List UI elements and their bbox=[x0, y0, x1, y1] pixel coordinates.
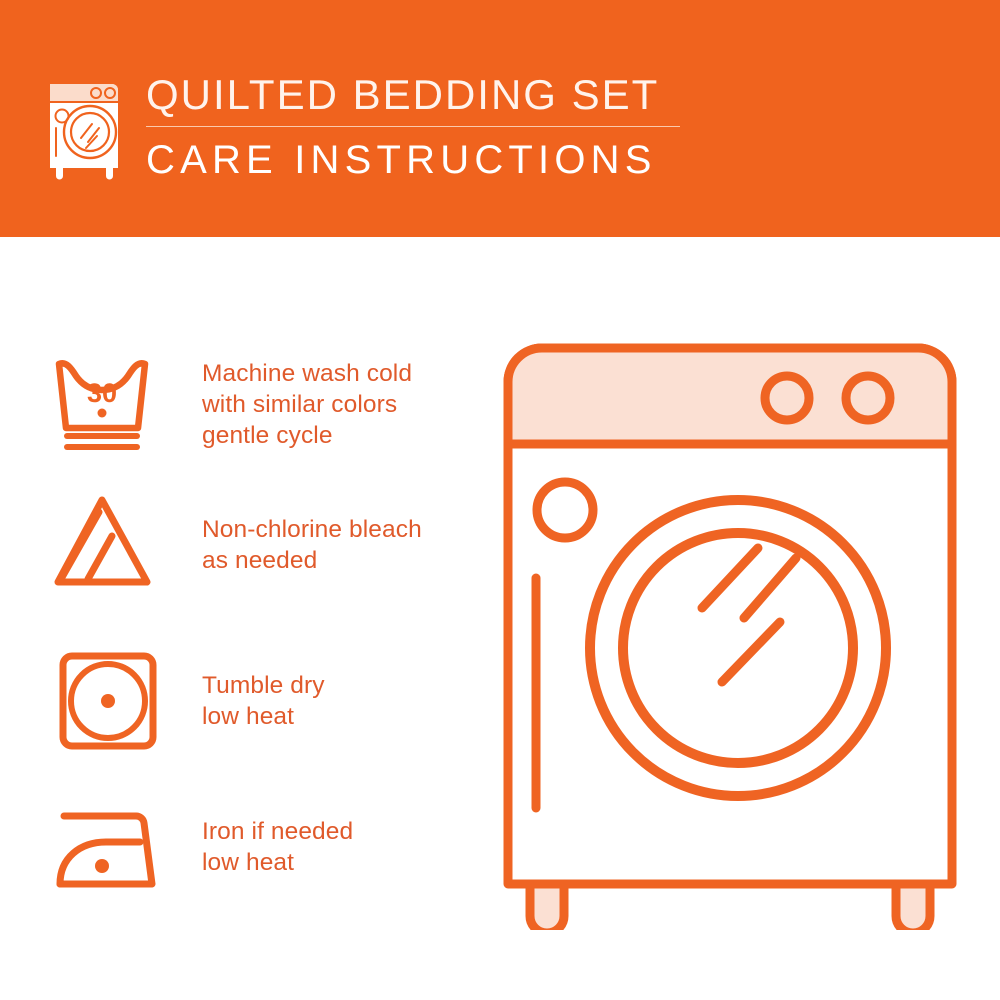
page-title: QUILTED BEDDING SET bbox=[146, 70, 746, 120]
page-subtitle: CARE INSTRUCTIONS bbox=[146, 137, 746, 183]
care-text-machine-wash: Machine wash cold with similar colors ge… bbox=[202, 358, 412, 451]
care-text-bleach: Non-chlorine bleach as needed bbox=[202, 514, 422, 576]
page-header: QUILTED BEDDING SET CARE INSTRUCTIONS bbox=[0, 0, 1000, 237]
leg-left bbox=[530, 884, 564, 930]
care-text-iron: Iron if needed low heat bbox=[202, 816, 353, 878]
header-title-group: QUILTED BEDDING SET CARE INSTRUCTIONS bbox=[146, 70, 746, 183]
care-text-tumble-dry: Tumble dry low heat bbox=[202, 670, 325, 732]
bleach-triangle-icon bbox=[50, 492, 170, 602]
leg-right bbox=[896, 884, 930, 930]
care-instructions-page: QUILTED BEDDING SET CARE INSTRUCTIONS 30… bbox=[0, 0, 1000, 1000]
washing-machine-logo-icon bbox=[44, 68, 140, 180]
tumble-dry-square-icon bbox=[50, 648, 170, 758]
title-divider-rule bbox=[146, 126, 680, 127]
wash-basin-30-icon: 30 bbox=[50, 352, 170, 462]
wash-temperature-label: 30 bbox=[87, 378, 117, 408]
front-load-washing-machine-illustration bbox=[490, 330, 970, 930]
iron-icon bbox=[50, 798, 170, 908]
